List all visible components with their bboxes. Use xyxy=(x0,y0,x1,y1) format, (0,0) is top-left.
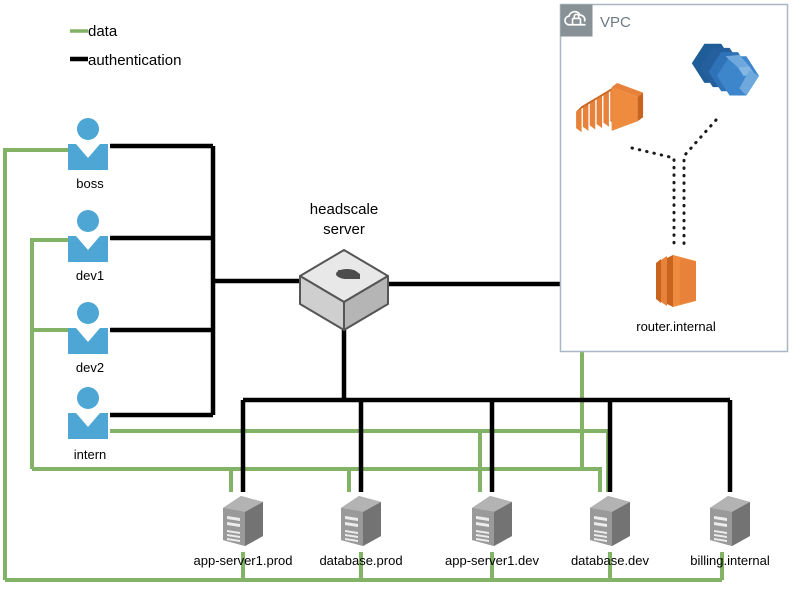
edge-data-dev1 xyxy=(32,240,73,469)
diagram-svg: data authentication xyxy=(0,0,792,593)
server-icon xyxy=(590,496,630,546)
edge-data-boss xyxy=(5,150,73,580)
node-label-app-server1-dev: app-server1.dev xyxy=(445,553,539,568)
node-user-dev1[interactable]: dev1 xyxy=(68,210,108,283)
node-user-boss[interactable]: boss xyxy=(68,118,108,191)
server-icon xyxy=(472,496,512,546)
node-app-server1-prod[interactable]: app-server1.prod xyxy=(194,496,293,568)
node-label-database-prod: database.prod xyxy=(319,553,402,568)
node-label-intern: intern xyxy=(74,447,107,462)
node-label-app-server1-prod: app-server1.prod xyxy=(194,553,293,568)
node-app-server1-dev[interactable]: app-server1.dev xyxy=(445,496,539,568)
node-user-dev2[interactable]: dev2 xyxy=(68,302,108,375)
node-database-prod[interactable]: database.prod xyxy=(319,496,402,568)
headscale-label-line1: headscale xyxy=(310,201,378,218)
aws-ec2-instance-icon xyxy=(656,255,696,307)
node-database-dev[interactable]: database.dev xyxy=(571,496,650,568)
user-icon xyxy=(68,302,108,354)
node-label-database-dev: database.dev xyxy=(571,553,650,568)
node-label-dev2: dev2 xyxy=(76,360,104,375)
server-icon xyxy=(710,496,750,546)
user-icon xyxy=(68,210,108,262)
node-user-intern[interactable]: intern xyxy=(68,387,108,462)
cube-server-icon xyxy=(300,250,388,330)
server-icon xyxy=(341,496,381,546)
node-label-dev1: dev1 xyxy=(76,268,104,283)
user-icon xyxy=(68,387,108,439)
legend-label-data: data xyxy=(88,23,118,40)
node-label-router-internal: router.internal xyxy=(636,319,716,334)
node-billing-internal[interactable]: billing.internal xyxy=(690,496,770,568)
node-headscale-server[interactable]: headscale server xyxy=(300,201,388,330)
node-label-boss: boss xyxy=(76,176,104,191)
vpc-label: VPC xyxy=(600,14,631,31)
node-label-billing-internal: billing.internal xyxy=(690,553,770,568)
legend-item-authentication: authentication xyxy=(70,52,181,69)
network-diagram-canvas: data authentication xyxy=(0,0,792,593)
legend: data authentication xyxy=(70,23,181,69)
headscale-label-line2: server xyxy=(323,221,365,238)
server-icon xyxy=(223,496,263,546)
legend-item-data: data xyxy=(70,23,118,40)
user-icon xyxy=(68,118,108,170)
data-bus-dev xyxy=(32,469,600,492)
legend-label-authentication: authentication xyxy=(88,52,181,69)
